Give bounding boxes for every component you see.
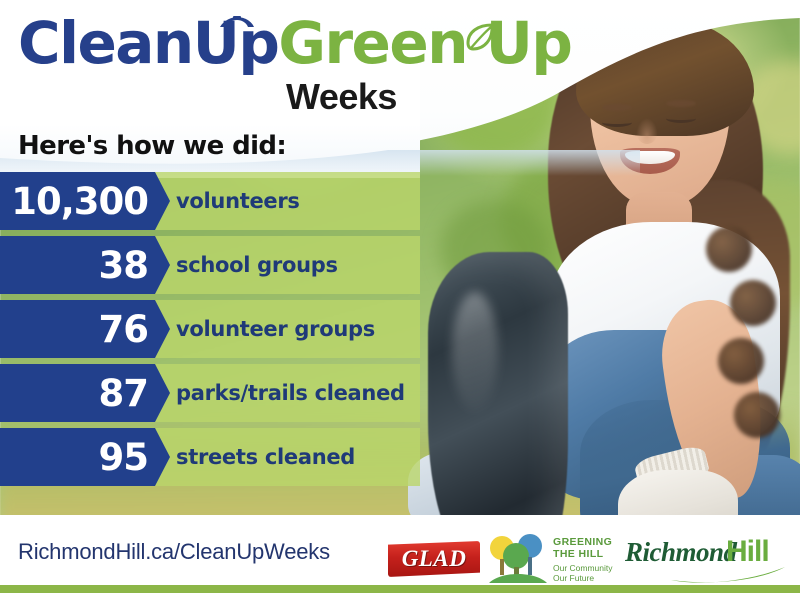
stat-value: 10,300	[11, 183, 170, 220]
stat-row: 10,300 volunteers	[0, 172, 420, 230]
greening-sub-1: Our Community	[553, 563, 613, 573]
hair-curl	[730, 280, 776, 326]
swoosh-icon	[669, 566, 787, 584]
eye-right	[666, 114, 696, 123]
stat-value: 95	[99, 439, 171, 476]
stat-bar: 95	[0, 428, 170, 486]
footer-green-strip	[0, 585, 800, 593]
greening-sub-2: Our Future	[553, 573, 613, 583]
three-trees-icon	[487, 533, 549, 585]
hair-curl	[718, 338, 764, 384]
stat-bar: 10,300	[0, 172, 170, 230]
stat-bar: 38	[0, 236, 170, 294]
nose	[636, 118, 658, 144]
logo-word-up-green: Up	[486, 9, 572, 77]
hair-curl	[706, 226, 752, 272]
stat-label: parks/trails cleaned	[176, 364, 405, 422]
eye-left	[602, 118, 632, 127]
richmond-hill-logo: Richmond Hill	[625, 533, 785, 585]
greening-line-1: GREENING	[553, 537, 613, 549]
stat-bar: 76	[0, 300, 170, 358]
stat-value: 87	[99, 375, 171, 412]
greening-the-hill-logo: GREENING THE HILL Our Community Our Futu…	[487, 533, 617, 585]
greening-text-block: GREENING THE HILL Our Community Our Futu…	[553, 537, 613, 583]
stat-row: 87 parks/trails cleaned	[0, 364, 420, 422]
logo-word-green: Green	[278, 9, 467, 77]
stat-value: 76	[99, 311, 171, 348]
stat-label: streets cleaned	[176, 428, 355, 486]
hair-curl	[734, 392, 780, 438]
stat-label: school groups	[176, 236, 338, 294]
stat-bar: 87	[0, 364, 170, 422]
garbage-bag-sheen	[452, 292, 498, 412]
page-title: Here's how we did:	[18, 131, 286, 161]
stats-list: 10,300 volunteers 38 school groups 76 vo…	[0, 172, 420, 492]
trash-can-lid-icon	[218, 16, 256, 29]
logo-word-clean: Clean	[18, 9, 193, 77]
stat-row: 95 streets cleaned	[0, 428, 420, 486]
stat-label: volunteer groups	[176, 300, 375, 358]
infographic-poster: CleanUpGreen Up Weeks Here's how we did:…	[0, 0, 800, 593]
richmond-wordmark: Richmond	[625, 537, 737, 568]
eyebrow-left	[602, 104, 632, 111]
hill-wordmark: Hill	[726, 535, 769, 569]
stat-row: 38 school groups	[0, 236, 420, 294]
stat-value: 38	[99, 247, 171, 284]
greening-line-2: THE HILL	[553, 549, 613, 561]
leaf-icon	[465, 22, 495, 52]
footer: RichmondHill.ca/CleanUpWeeks GLAD GREENI…	[0, 515, 800, 593]
stat-label: volunteers	[176, 172, 300, 230]
campaign-logo: CleanUpGreen Up Weeks	[18, 14, 548, 124]
website-url[interactable]: RichmondHill.ca/CleanUpWeeks	[18, 539, 330, 565]
glad-logo: GLAD	[388, 541, 480, 577]
glad-wordmark: GLAD	[388, 541, 480, 577]
eyebrow-right	[666, 100, 696, 107]
stat-row: 76 volunteer groups	[0, 300, 420, 358]
logo-subtitle: Weeks	[286, 76, 397, 118]
